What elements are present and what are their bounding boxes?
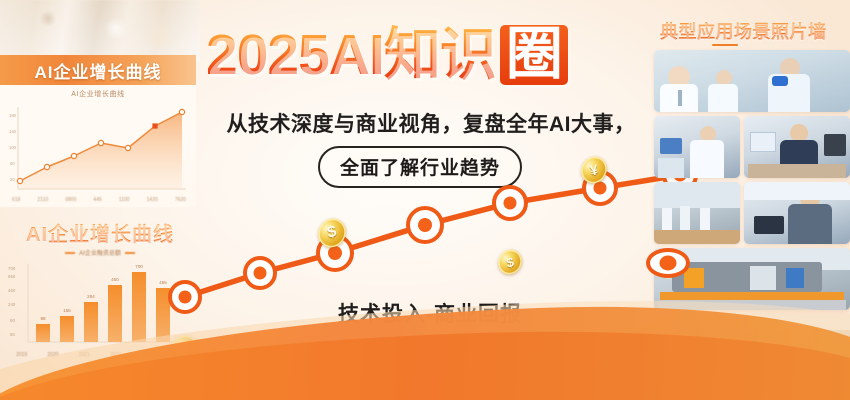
svg-text:460: 460	[8, 288, 16, 293]
legend-label: AI企业融资总额	[79, 248, 121, 257]
svg-text:294: 294	[87, 294, 95, 299]
page-title: 2025AI 知识 圈	[206, 24, 656, 86]
svg-text:20: 20	[10, 177, 15, 182]
photo-factory-workers[interactable]	[654, 182, 740, 244]
svg-text:700: 700	[8, 266, 16, 271]
card-band-label: AI企业增长曲线	[35, 58, 162, 83]
svg-text:450: 450	[111, 277, 119, 282]
svg-text:140: 140	[9, 129, 17, 134]
svg-text:155: 155	[63, 308, 71, 313]
svg-text:60: 60	[10, 161, 15, 166]
legend-swatch-icon	[65, 252, 75, 254]
photo-office-desk[interactable]	[744, 116, 850, 178]
card-band-header: AI企业增长曲线	[0, 55, 196, 85]
photo-lab-technician[interactable]	[654, 116, 740, 178]
photo-wall-divider	[712, 44, 738, 46]
center-trend-chart	[150, 155, 710, 315]
svg-text:700: 700	[135, 264, 143, 269]
svg-text:50: 50	[10, 332, 15, 337]
svg-text:180: 180	[9, 113, 17, 118]
title-boxed: 圈	[500, 25, 568, 85]
promo-banner: AI企业增长曲线 AI企业增长曲线 2060 100140180	[0, 0, 850, 400]
title-mid: 知识	[384, 24, 496, 86]
svg-text:98: 98	[40, 316, 46, 321]
mini-chart-caption: AI企业增长曲线	[0, 89, 196, 99]
svg-text:240: 240	[8, 302, 16, 307]
background-photo-top-left	[0, 0, 200, 62]
svg-text:650: 650	[8, 274, 16, 279]
hero-subtitle: 从技术深度与商业视角，复盘全年AI大事，	[196, 108, 666, 138]
chart-highlight-marker	[152, 123, 157, 128]
title-main: 2025AI	[206, 24, 384, 86]
svg-text:100: 100	[9, 145, 17, 150]
decorative-ring-icon	[646, 248, 690, 278]
photo-doctors-team[interactable]	[654, 50, 850, 112]
trend-node-group	[170, 159, 696, 312]
svg-text:90: 90	[10, 318, 15, 323]
legend-swatch-icon-2	[125, 252, 135, 254]
photo-engineer-laptop[interactable]	[744, 182, 850, 244]
photo-wall-title: 典型应用场景照片墙	[660, 18, 850, 44]
